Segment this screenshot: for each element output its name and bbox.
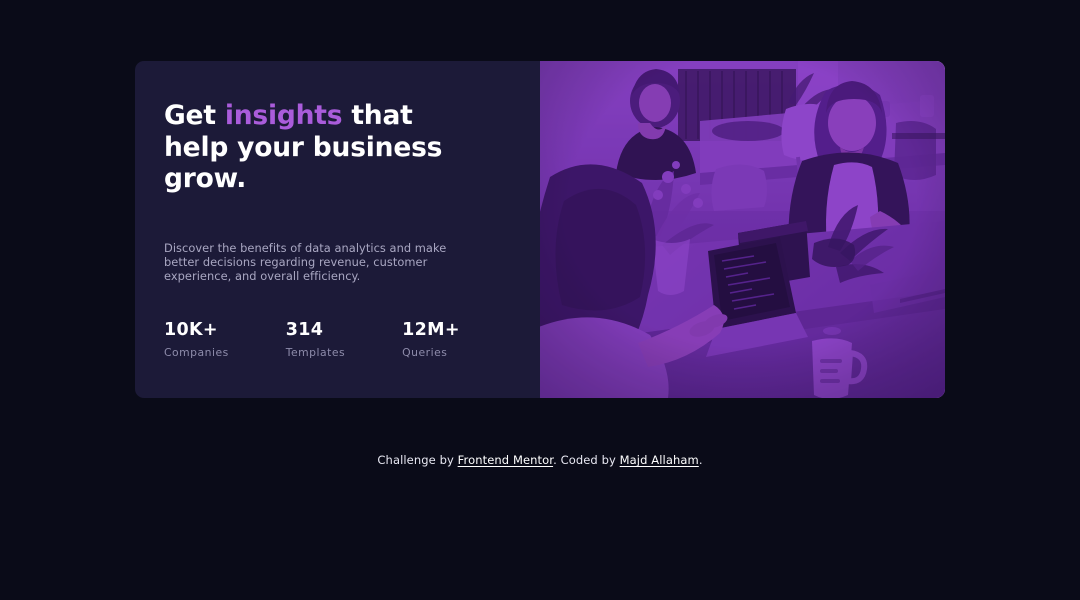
card-image-column [540,61,945,398]
stat-item-companies: 10K+ Companies [164,320,229,359]
frontend-mentor-link[interactable]: Frontend Mentor [458,453,553,467]
card-description: Discover the benefits of data analytics … [164,241,449,283]
headline-accent-word: insights [225,100,342,131]
attribution-suffix: . [699,453,703,467]
page-title: Get insights that help your business gro… [164,100,464,195]
stat-value: 10K+ [164,320,229,340]
attribution: Challenge by Frontend Mentor. Coded by M… [0,453,1080,467]
stats-preview-card: Get insights that help your business gro… [135,61,945,398]
headline-part-1: Get [164,100,225,131]
stat-label: Queries [402,346,460,359]
page-root: Get insights that help your business gro… [0,0,1080,600]
office-team-photo [540,61,945,398]
stat-value: 12M+ [402,320,460,340]
attribution-prefix: Challenge by [377,453,457,467]
stats-list: 10K+ Companies 314 Templates 12M+ Querie… [164,320,460,359]
stat-label: Templates [286,346,345,359]
attribution-middle: . Coded by [553,453,620,467]
stat-label: Companies [164,346,229,359]
card-text-column: Get insights that help your business gro… [135,61,540,398]
stat-item-templates: 314 Templates [286,320,345,359]
author-link[interactable]: Majd Allaham [620,453,699,467]
stat-item-queries: 12M+ Queries [402,320,460,359]
stat-value: 314 [286,320,345,340]
